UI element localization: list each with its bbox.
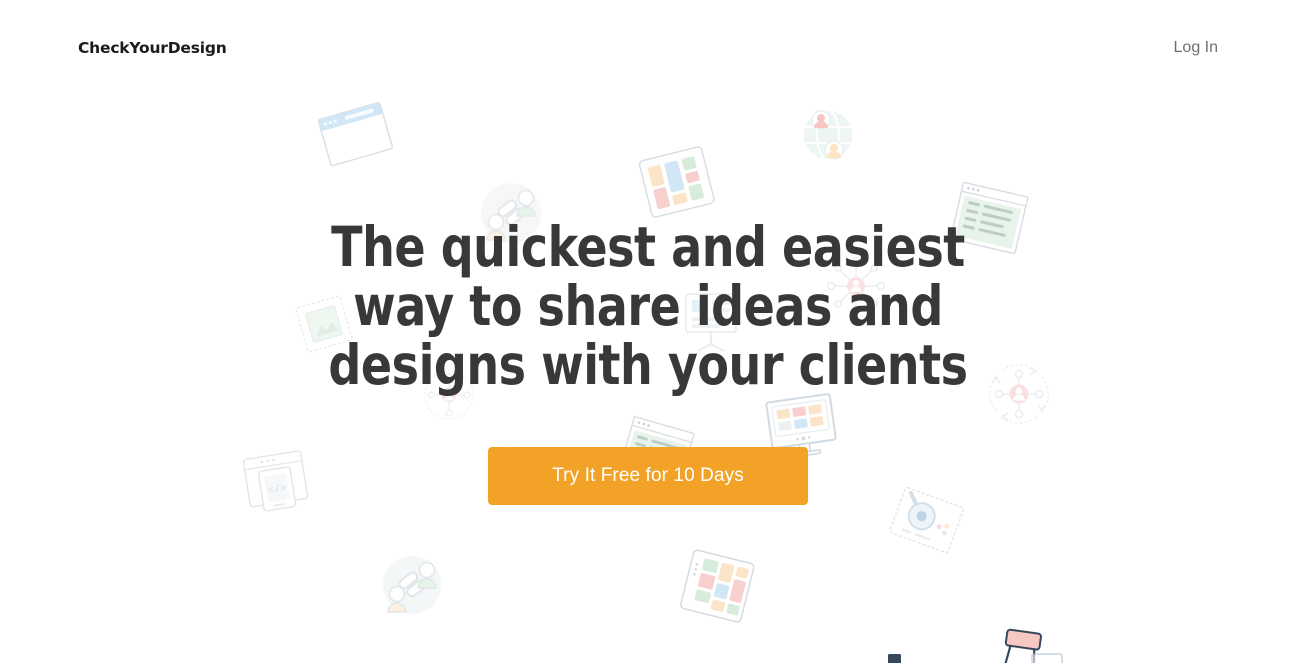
picture-frame-icon xyxy=(289,289,358,358)
collab-users-link-icon xyxy=(474,176,548,250)
browser-card-blue-icon xyxy=(311,91,400,180)
try-free-cta-button[interactable]: Try It Free for 10 Days xyxy=(488,447,808,505)
document-window-green-icon xyxy=(943,173,1034,264)
brand-logo[interactable]: CheckYourDesign xyxy=(78,39,227,57)
site-header: CheckYourDesign Log In xyxy=(0,0,1296,96)
kanban-board-icon xyxy=(633,139,720,226)
hero-content: The quickest and easiest way to share id… xyxy=(0,218,1296,505)
hub-network-small-icon xyxy=(420,366,478,424)
hub-network-dashed-icon xyxy=(982,357,1056,431)
easel-pink-icon xyxy=(992,624,1058,663)
background-illustration-layer: </> xyxy=(0,0,1296,663)
hub-network-nodes-icon xyxy=(822,252,890,320)
hero-headline: The quickest and easiest way to share id… xyxy=(281,218,1016,395)
hero-section: The quickest and easiest way to share id… xyxy=(0,0,1296,663)
kanban-tablet-icon xyxy=(675,545,760,630)
presentation-board-icon xyxy=(676,288,746,358)
dark-marker-icon xyxy=(886,652,908,663)
collab-users-link-icon xyxy=(376,549,448,621)
hero-cta-container: Try It Free for 10 Days xyxy=(0,447,1296,505)
login-link[interactable]: Log In xyxy=(1174,39,1218,57)
light-card-corner-icon xyxy=(1030,650,1066,663)
globe-users-network-icon xyxy=(796,103,860,167)
